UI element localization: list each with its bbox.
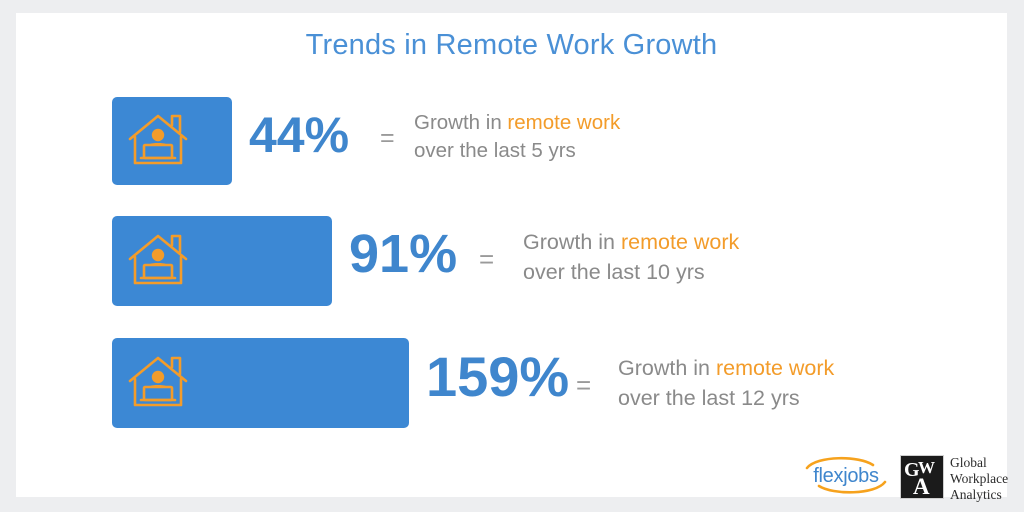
gwa-wordmark: Global Workplace Analytics (950, 455, 1008, 503)
description-row2-prefix: Growth in (523, 230, 621, 254)
svg-text:A: A (913, 474, 930, 498)
description-row1-highlight: remote work (507, 111, 620, 134)
flexjobs-logo: flexjobs (801, 454, 891, 496)
footer-logos: flexjobs G W A Global Workplace Analytic… (796, 450, 1011, 502)
description-row1-line1: Growth in remote work (414, 109, 620, 137)
gwa-logo: G W A Global Workplace Analytics (900, 450, 1012, 502)
house-remote-worker-icon (126, 111, 190, 176)
description-row3: Growth in remote work over the last 12 y… (618, 354, 834, 413)
flexjobs-wordmark: flexjobs (801, 465, 891, 488)
description-row1-prefix: Growth in (414, 111, 507, 134)
description-row1-line2: over the last 5 yrs (414, 137, 620, 165)
gwa-monogram-icon: G W A (900, 455, 944, 499)
gwa-wordmark-line2: Workplace (950, 471, 1008, 487)
description-row2-line2: over the last 10 yrs (523, 258, 739, 288)
description-row3-line1: Growth in remote work (618, 354, 834, 384)
bar-159-percent (112, 338, 409, 428)
infographic-canvas: Trends in Remote Work Growth 44% (0, 0, 1024, 512)
description-row3-highlight: remote work (716, 356, 834, 380)
description-row1: Growth in remote work over the last 5 yr… (414, 109, 620, 166)
house-remote-worker-icon (126, 353, 190, 418)
equals-sign-row2: = (479, 246, 494, 272)
percent-value-159: 159% (426, 349, 569, 405)
page-title: Trends in Remote Work Growth (16, 29, 1007, 62)
house-remote-worker-icon (126, 231, 190, 296)
bar-44-percent (112, 97, 232, 185)
percent-value-44: 44% (249, 110, 349, 160)
bar-91-percent (112, 216, 332, 306)
description-row3-prefix: Growth in (618, 356, 716, 380)
description-row2: Growth in remote work over the last 10 y… (523, 228, 739, 287)
percent-value-91: 91% (349, 227, 457, 281)
description-row2-line1: Growth in remote work (523, 228, 739, 258)
equals-sign-row1: = (380, 126, 395, 151)
gwa-monogram-letters: G W A (901, 456, 943, 498)
equals-sign-row3: = (576, 372, 591, 398)
description-row2-highlight: remote work (621, 230, 739, 254)
gwa-wordmark-line3: Analytics (950, 487, 1008, 503)
infographic-card: Trends in Remote Work Growth 44% (16, 13, 1007, 497)
gwa-wordmark-line1: Global (950, 455, 1008, 471)
description-row3-line2: over the last 12 yrs (618, 384, 834, 414)
